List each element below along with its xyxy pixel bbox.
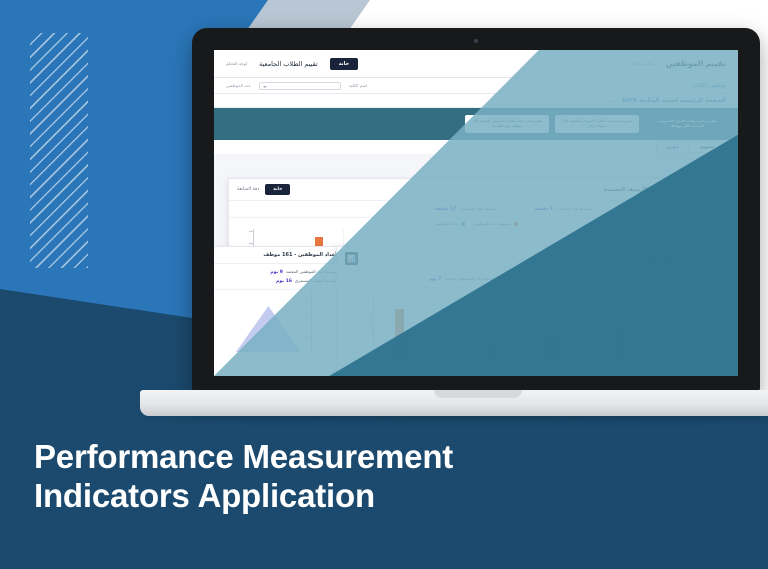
legend-label: عدد الموظفين [434,221,458,226]
tab-report-3[interactable]: تقرير تحديد وقت العمل الأسبوعي المعتمد ل… [465,115,549,133]
app-navbar: تقييم الموظفين نظام متكامل خانة تقييم ال… [214,50,738,78]
hatch-pattern-decoration [30,33,88,268]
poster-canvas: تقييم الموظفين نظام متكامل خانة تقييم ال… [0,0,768,569]
stat-label: متوسط عدد الساعات [556,206,592,211]
stat-value: 21 دقيقة [634,277,655,282]
stat-label: متوسط الوقت المستغرق في الإجراء [658,276,719,281]
dashboard-app: تقييم الموظفين نظام متكامل خانة تقييم ال… [214,50,738,376]
stat-item: متوسط الوقت المستغرق 16 يوم [276,278,337,284]
chart-bar-icon[interactable]: 📊 [345,252,358,265]
laptop-screen: تقييم الموظفين نظام متكامل خانة تقييم ال… [214,50,738,376]
navbar-action-button[interactable]: خانة [330,58,358,70]
navbar-link[interactable]: تقييم الطلاب الجامعية [259,60,318,68]
stat-value: 7 يوم [429,277,442,282]
stat-label: متوسط عدد الموظفين [459,206,497,211]
y-tick [249,243,254,244]
period-segmented-control: سنوي شهري [214,140,738,154]
chart-bottom-plot-area: عدد الموظفين [351,299,717,361]
chart-top-legend: متوسط عدد الموظفين عدد الموظفين [229,218,723,227]
legend-item: عدد الموظفين [434,221,465,226]
chart-left-small [214,290,345,352]
main-card-header: تقرير تحديد مواعيد تسجيل الأرشيف المعتمد… [229,179,723,201]
stat-label: متوسط عدد الموظفين المعتمد [286,269,337,274]
legend-item: متوسط عدد الموظفين [529,291,574,296]
laptop-mockup: تقييم الموظفين نظام متكامل خانة تقييم ال… [186,28,768,418]
legend-swatch-orange [570,292,574,296]
poster-title: Performance Measurement Indicators Appli… [34,438,674,515]
navbar-brand: تقييم الموظفين [666,59,726,68]
left-card-header: أعداد الموظفين - 161 موظف [214,247,345,264]
tab-report-2[interactable]: تقرير تحديد وقت العمل الأسبوعي المعتمد ل… [555,115,639,133]
main-card-button[interactable]: خانة [265,184,290,195]
employees-ratio-card: نسبة الموظفين - NITR موظف 📊 متوسط الوقت … [336,246,728,376]
distribution-curve [351,299,717,361]
stat-item: متوسط الموظفين 12 دقيقة [559,276,613,282]
stat-item: متوسط عدد الساعات 7 دقيقة [535,206,592,212]
college-select[interactable] [259,82,341,90]
left-card-title: أعداد الموظفين - 161 موظف [263,252,337,258]
bar-series-brown [547,335,556,361]
right-card-title: نسبة الموظفين - NITR موظف [643,256,719,262]
legend-label: متوسط عدد الموظفين [473,221,511,226]
page-title: الصفحة الرئيسية لخدمة المتابعة NITR [622,98,726,104]
stat-item: متوسط الوقت المستغرق في الإجراء 22 دقيقة [630,206,715,212]
employees-count-card: أعداد الموظفين - 161 موظف متوسط عدد المو… [214,246,346,376]
right-card-header: نسبة الموظفين - NITR موظف 📊 [337,247,727,271]
stat-label: متوسط الوقت المستغرق في الإجراء [654,206,715,211]
main-card-subtitle: دقة المتابعة [237,187,259,192]
stat-value: 9 يوم [270,270,283,275]
chart-bottom: عدد الموظفين [337,297,727,361]
navbar-brand-subtitle: نظام متكامل [631,61,653,66]
page-header: الصفحة الرئيسية لخدمة المتابعة NITR الرئ… [214,94,738,108]
legend-swatch-blue [461,222,465,226]
area-chart-shape [227,292,335,352]
segment-monthly[interactable]: شهري [656,141,689,153]
legend-item: متوسط عدد الموظفين [473,221,518,226]
bar-series-brown [487,347,496,361]
stat-value: 12 دقيقة [559,277,580,282]
bar-series-brown [617,329,626,361]
tab-report-1[interactable]: تقرير تحديد وقت العمل الأسبوعي المعتمد ل… [645,115,729,133]
chart-left-plot-area [227,292,335,352]
y-tick [249,231,254,232]
stat-value: 22 دقيقة [630,207,651,212]
left-card-stats: متوسط عدد الموظفين المعتمد 9 يوم متوسط ا… [214,264,345,290]
chart-bottom-legend: متوسط عدد الموظفين عدد الموظفين [337,288,727,297]
subbar-right-label: عدد الموظفين [226,83,251,88]
subbar-link[interactable]: موظفي الكليات [692,83,726,89]
right-card-stats: متوسط الوقت المستغرق في الإجراء 21 دقيقة… [337,271,727,288]
stat-item: متوسط الوقت المستغرق في الإجراء 21 دقيقة [634,276,719,282]
webcam-icon [474,39,478,43]
bar-series-orange [395,309,404,361]
stat-label: متوسط عدد الموظفين المعتمد [444,276,495,281]
navbar-link-subtitle: لوحة التحكم [226,61,247,66]
main-card-stats: متوسط الوقت المستغرق في الإجراء 22 دقيقة… [229,201,723,218]
stat-item: متوسط عدد الموظفين 17 دقيقة [435,206,497,212]
stat-label: متوسط الموظفين [584,276,614,281]
main-card-title: تقرير تحديد مواعيد تسجيل الأرشيف المعتمد… [604,187,715,193]
poster-title-line-2: Indicators Application [34,477,674,516]
poster-title-line-1: Performance Measurement [34,438,674,477]
laptop-lid: تقييم الموظفين نظام متكامل خانة تقييم ال… [192,28,760,394]
subbar-field-label: اسم الكلية [349,83,367,88]
stat-label: متوسط الوقت المستغرق [295,278,337,283]
legend-label: متوسط عدد الموظفين [529,291,567,296]
legend-item: عدد الموظفين [490,291,521,296]
laptop-base [140,390,768,416]
stat-value: 17 دقيقة [435,207,456,212]
stat-item: متوسط عدد الموظفين المعتمد 9 يوم [270,269,337,275]
segment-yearly[interactable]: سنوي [689,141,724,153]
legend-label: عدد الموظفين [490,291,514,296]
app-subbar: موظفي الكليات اسم الكلية عدد الموظفين [214,78,738,94]
breadcrumb: الرئيسية [605,99,617,103]
stat-value: 16 يوم [276,279,292,284]
report-tabbar: تقرير تحديد وقت العمل الأسبوعي المعتمد ل… [214,108,738,140]
stat-item: متوسط عدد الموظفين المعتمد 7 يوم [429,276,496,282]
stat-value: 7 دقيقة [535,207,553,212]
legend-swatch-brown [517,292,521,296]
legend-swatch-orange [514,222,518,226]
